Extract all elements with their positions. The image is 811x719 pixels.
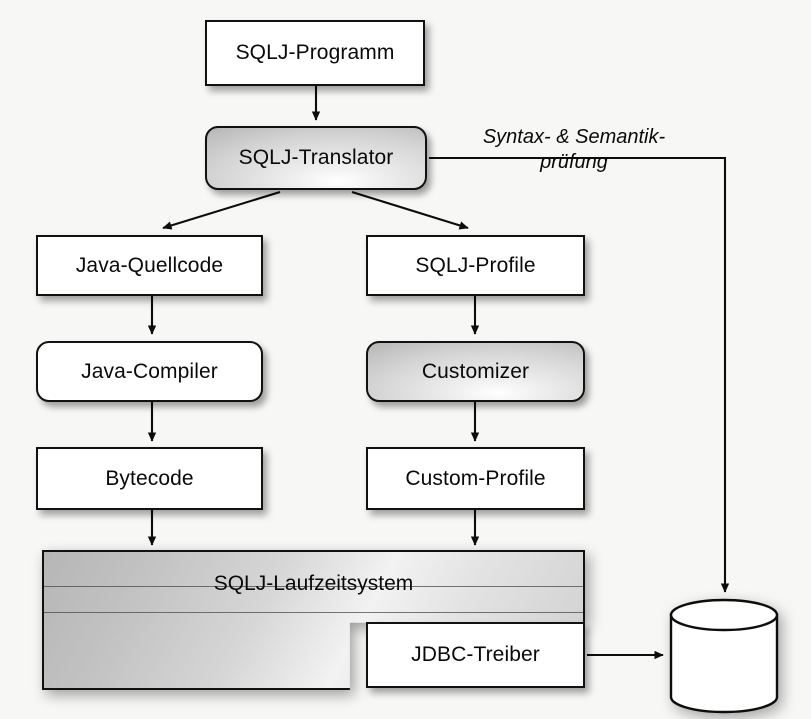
node-customizer[interactable]: Customizer bbox=[366, 341, 585, 402]
node-java-quellcode[interactable]: Java-Quellcode bbox=[36, 235, 263, 296]
node-label: SQLJ-Laufzeitsystem bbox=[42, 572, 585, 596]
node-sqlj-programm[interactable]: SQLJ-Programm bbox=[205, 20, 425, 86]
edge-translator-to-quellcode bbox=[163, 192, 280, 228]
node-label: SQLJ-Profile bbox=[409, 254, 541, 278]
node-label: Bytecode bbox=[99, 467, 199, 491]
node-label: Java-Compiler bbox=[75, 360, 224, 384]
diagram-canvas: Syntax- & Semantik- prüfung SQLJ-Program… bbox=[0, 0, 811, 719]
node-java-compiler[interactable]: Java-Compiler bbox=[36, 341, 263, 402]
node-jdbc-treiber[interactable]: JDBC-Treiber bbox=[366, 622, 585, 688]
node-bytecode[interactable]: Bytecode bbox=[36, 447, 263, 510]
annotation-line-1: Syntax- & Semantik- bbox=[483, 126, 665, 148]
node-label: Custom-Profile bbox=[399, 467, 551, 491]
runtime-divider-bottom bbox=[44, 612, 583, 613]
node-sqlj-profile[interactable]: SQLJ-Profile bbox=[366, 235, 585, 296]
node-sqlj-translator[interactable]: SQLJ-Translator bbox=[205, 126, 427, 190]
annotation-line-2: prüfung bbox=[540, 151, 608, 173]
node-custom-profile[interactable]: Custom-Profile bbox=[366, 447, 585, 510]
node-label: Java-Quellcode bbox=[70, 254, 229, 278]
node-database[interactable] bbox=[668, 598, 780, 714]
node-label: Customizer bbox=[416, 360, 535, 384]
annotation-syntax-check: Syntax- & Semantik- prüfung bbox=[452, 125, 696, 175]
database-cylinder-icon bbox=[668, 598, 780, 714]
node-label: SQLJ-Translator bbox=[233, 146, 400, 170]
edge-translator-to-profile bbox=[352, 192, 468, 228]
node-label: JDBC-Treiber bbox=[405, 643, 546, 667]
node-label: SQLJ-Programm bbox=[230, 41, 401, 65]
